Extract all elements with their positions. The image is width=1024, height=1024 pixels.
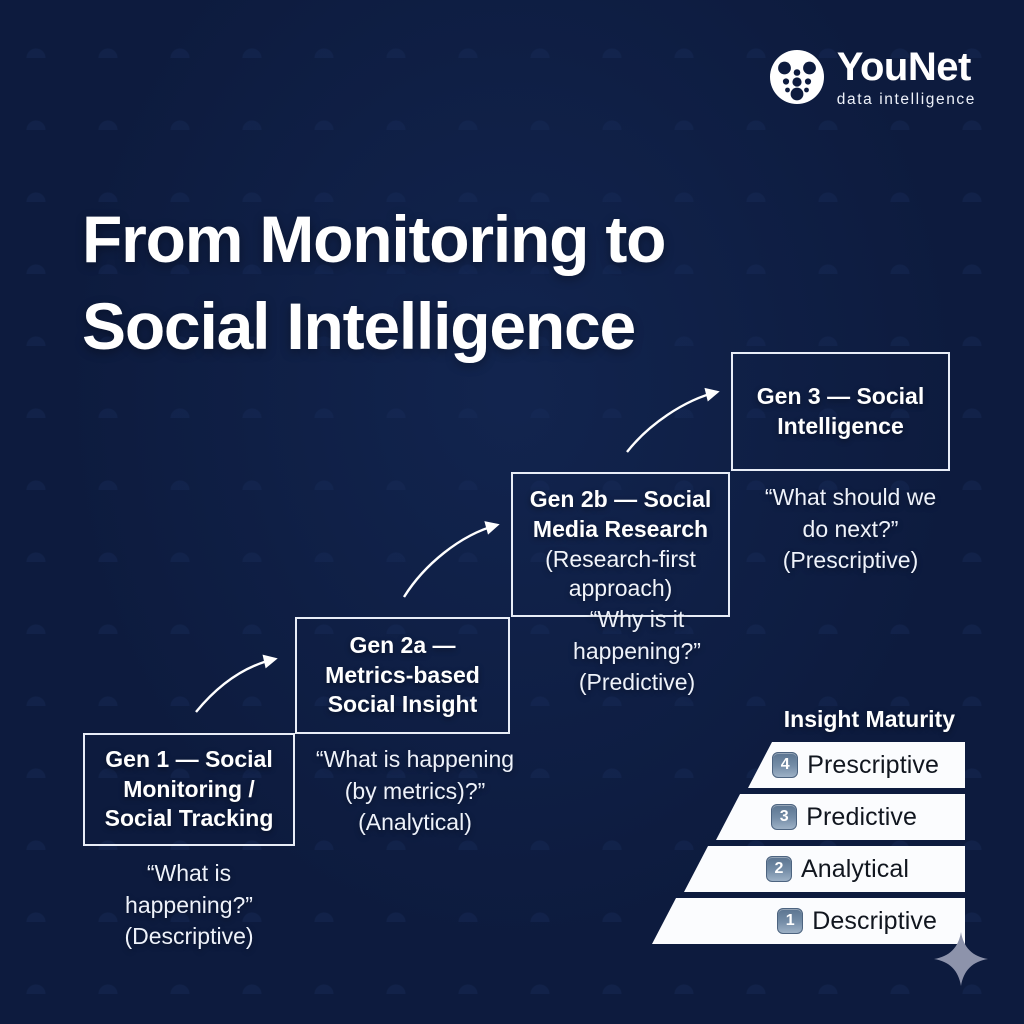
legend-label-prescriptive: Prescriptive xyxy=(807,751,939,780)
step-gen2b-subtitle: (Research-first approach) xyxy=(530,545,712,605)
legend-title: Insight Maturity xyxy=(620,706,965,733)
step-gen2a-text: Gen 2a — Metrics-based Social Insight xyxy=(325,631,480,721)
insight-maturity-legend: Insight Maturity 4 Prescriptive 3 Predic… xyxy=(620,706,965,950)
legend-label-analytical: Analytical xyxy=(801,855,909,884)
step-gen3-caption: “What should we do next?” (Prescriptive) xyxy=(737,482,964,577)
step-gen1-title: Gen 1 — Social Monitoring / Social Track… xyxy=(105,746,274,832)
step-gen2b-text: Gen 2b — Social Media Research (Research… xyxy=(530,485,712,605)
legend-badge-4: 4 xyxy=(772,752,798,778)
step-gen2a-caption: “What is happening (by metrics)?” (Analy… xyxy=(299,744,531,839)
step-box-gen1[interactable]: Gen 1 — Social Monitoring / Social Track… xyxy=(83,733,295,846)
legend-band-analytical[interactable]: 2 Analytical xyxy=(684,846,965,892)
legend-band-descriptive[interactable]: 1 Descriptive xyxy=(652,898,965,944)
step-gen2a-title: Gen 2a — Metrics-based Social Insight xyxy=(325,632,480,718)
legend-band-content: 3 Predictive xyxy=(771,803,917,832)
legend-label-descriptive: Descriptive xyxy=(812,907,937,936)
legend-band-content: 4 Prescriptive xyxy=(772,751,939,780)
legend-badge-3: 3 xyxy=(771,804,797,830)
legend-badge-2: 2 xyxy=(766,856,792,882)
legend-band-content: 1 Descriptive xyxy=(777,907,937,936)
step-gen1-caption: “What is happening?” (Descriptive) xyxy=(83,858,295,953)
step-gen2b-caption: “Why is it happening?” (Predictive) xyxy=(547,604,727,699)
legend-band-predictive[interactable]: 3 Predictive xyxy=(716,794,965,840)
legend-label-predictive: Predictive xyxy=(806,803,917,832)
step-gen1-text: Gen 1 — Social Monitoring / Social Track… xyxy=(105,745,274,835)
legend-badge-1: 1 xyxy=(777,908,803,934)
step-gen3-title: Gen 3 — Social Intelligence xyxy=(757,383,924,439)
step-box-gen2b[interactable]: Gen 2b — Social Media Research (Research… xyxy=(511,472,730,617)
step-gen2b-title: Gen 2b — Social Media Research xyxy=(530,486,712,542)
legend-band-prescriptive[interactable]: 4 Prescriptive xyxy=(748,742,965,788)
step-box-gen2a[interactable]: Gen 2a — Metrics-based Social Insight xyxy=(295,617,510,734)
legend-band-content: 2 Analytical xyxy=(766,855,909,884)
step-gen3-text: Gen 3 — Social Intelligence xyxy=(757,382,924,442)
step-box-gen3[interactable]: Gen 3 — Social Intelligence xyxy=(731,352,950,471)
